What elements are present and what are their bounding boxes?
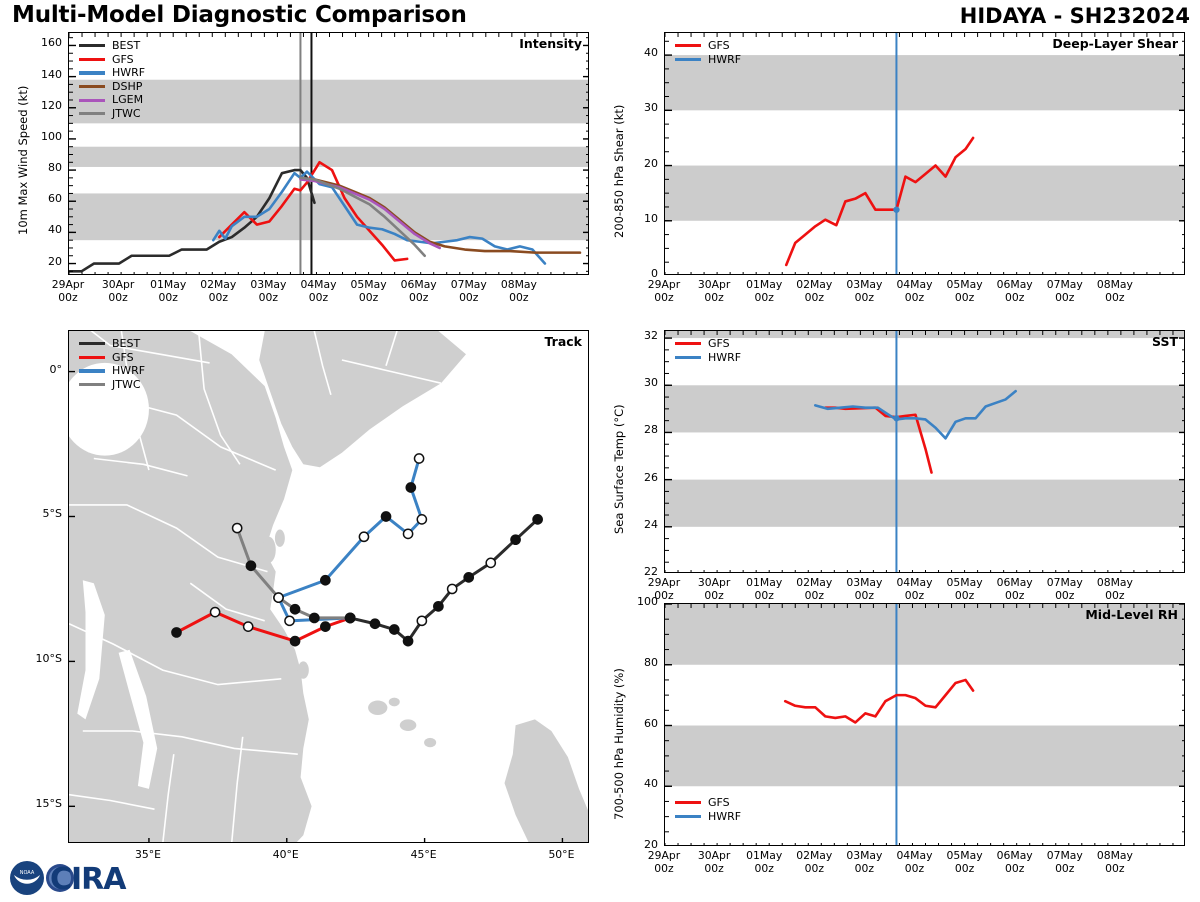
legend-label-hwrf: HWRF [708,810,741,824]
legend-swatch-gfs [675,801,701,804]
panel-rh: Mid-Level RH GFSHWRF [664,603,1185,846]
page-title-left: Multi-Model Diagnostic Comparison [12,2,467,28]
intensity-ytick-label: 120 [24,99,62,112]
rh-plot [665,604,1185,846]
legend-swatch-best [79,342,105,345]
legend-item-gfs: GFS [675,337,741,351]
legend-label-gfs: GFS [708,796,730,810]
legend-swatch-jtwc [79,112,105,115]
legend-label-hwrf: HWRF [708,53,741,67]
intensity-ytick-label: 140 [24,68,62,81]
cira-wordmark: CIRA [46,862,127,897]
legend-label-hwrf: HWRF [112,66,145,80]
legend-label-best: BEST [112,39,140,53]
panel-sst: SST GFSHWRF [664,330,1185,573]
tick-label-date: 08May [1081,850,1149,863]
sst-ytick-label: 26 [620,471,658,484]
track-xtick-label: 40°E [256,848,316,861]
sst-ytick-label: 30 [620,376,658,389]
legend-swatch-hwrf [675,815,701,818]
rh-ytick-label: 60 [620,717,658,730]
legend-label-jtwc: JTWC [112,107,141,121]
legend-item-hwrf: HWRF [675,351,741,365]
intensity-ytick-label: 20 [24,255,62,268]
track-ytick-label: 0° [14,363,62,376]
panel-track: Track BESTGFSHWRFJTWC [68,330,589,843]
legend-swatch-hwrf [675,58,701,61]
panel-intensity: Intensity BESTGFSHWRFDSHPLGEMJTWC [68,32,589,275]
sst-ytick-label: 28 [620,423,658,436]
panel-shear: Deep-Layer Shear GFSHWRF [664,32,1185,275]
rh-ytick-label: 100 [620,595,658,608]
track-ytick-label: 10°S [14,652,62,665]
shear-plot [665,33,1185,275]
legend-item-best: BEST [79,39,145,53]
legend-swatch-gfs [675,44,701,47]
shear-xtick: 08May00z [1081,279,1149,304]
legend-label-gfs: GFS [708,39,730,53]
page-title-right: HIDAYA - SH232024 [960,4,1190,28]
tick-label-hour: 00z [1081,590,1149,603]
intensity-ytick-label: 100 [24,130,62,143]
legend-swatch-hwrf [79,369,105,372]
rh-ytick-label: 40 [620,777,658,790]
shear-ytick-label: 20 [620,157,658,170]
track-map [69,331,589,843]
legend-track: BESTGFSHWRFJTWC [79,337,145,391]
legend-swatch-hwrf [675,356,701,359]
svg-text:NOAA: NOAA [20,870,35,876]
track-xtick-label: 50°E [531,848,591,861]
tick-label-date: 08May [1081,279,1149,292]
panel-tag-rh: Mid-Level RH [1085,607,1178,622]
legend-swatch-lgem [79,99,105,102]
legend-label-hwrf: HWRF [112,364,145,378]
legend-label-gfs: GFS [708,337,730,351]
shear-ytick-label: 10 [620,212,658,225]
legend-label-best: BEST [112,337,140,351]
intensity-ytick-label: 160 [24,36,62,49]
panel-tag-intensity: Intensity [519,36,582,51]
sst-ytick-label: 24 [620,518,658,531]
legend-label-gfs: GFS [112,53,134,67]
noaa-cira-logo: NOAA CIRA [8,858,140,898]
rh-ytick-label: 80 [620,656,658,669]
intensity-plot [69,33,589,275]
legend-item-hwrf: HWRF [675,810,741,824]
sst-plot [665,331,1185,573]
legend-item-gfs: GFS [675,39,741,53]
svg-text:CIRA: CIRA [50,862,127,897]
track-xtick-label: 45°E [394,848,454,861]
legend-item-best: BEST [79,337,145,351]
legend-swatch-jtwc [79,383,105,386]
legend-item-hwrf: HWRF [79,364,145,378]
legend-label-dshp: DSHP [112,80,142,94]
tick-label-hour: 00z [1081,292,1149,305]
legend-swatch-gfs [79,58,105,61]
legend-intensity: BESTGFSHWRFDSHPLGEMJTWC [79,39,145,121]
panel-tag-shear: Deep-Layer Shear [1052,36,1178,51]
legend-item-lgem: LGEM [79,93,145,107]
legend-item-jtwc: JTWC [79,378,145,392]
panel-tag-sst: SST [1152,334,1178,349]
legend-sst: GFSHWRF [675,337,741,364]
track-ytick-label: 15°S [14,797,62,810]
tick-label-date: 08May [1081,577,1149,590]
intensity-ytick-label: 40 [24,223,62,236]
legend-swatch-gfs [79,356,105,359]
legend-swatch-gfs [675,342,701,345]
shear-ytick-label: 40 [620,46,658,59]
intensity-ytick-label: 60 [24,192,62,205]
legend-label-jtwc: JTWC [112,378,141,392]
shear-ytick-label: 30 [620,101,658,114]
tick-label-date: 08May [485,279,553,292]
legend-rh: GFSHWRF [675,796,741,823]
tick-label-hour: 00z [1081,863,1149,876]
intensity-ytick-label: 80 [24,161,62,174]
intensity-xtick: 08May00z [485,279,553,304]
legend-item-jtwc: JTWC [79,107,145,121]
legend-item-gfs: GFS [79,351,145,365]
legend-swatch-best [79,44,105,47]
track-ytick-label: 5°S [14,507,62,520]
legend-shear: GFSHWRF [675,39,741,66]
legend-item-gfs: GFS [79,53,145,67]
sst-xtick: 08May00z [1081,577,1149,602]
legend-label-lgem: LGEM [112,93,143,107]
legend-item-dshp: DSHP [79,80,145,94]
tick-label-hour: 00z [485,292,553,305]
legend-item-hwrf: HWRF [675,53,741,67]
noaa-icon: NOAA [10,861,44,895]
legend-swatch-hwrf [79,71,105,74]
legend-swatch-dshp [79,85,105,88]
legend-label-gfs: GFS [112,351,134,365]
rh-ylabel: 700-500 hPa Humidity (%) [612,668,626,820]
rh-xtick: 08May00z [1081,850,1149,875]
legend-item-hwrf: HWRF [79,66,145,80]
panel-tag-track: Track [545,334,582,349]
sst-ytick-label: 32 [620,329,658,342]
legend-item-gfs: GFS [675,796,741,810]
legend-label-hwrf: HWRF [708,351,741,365]
